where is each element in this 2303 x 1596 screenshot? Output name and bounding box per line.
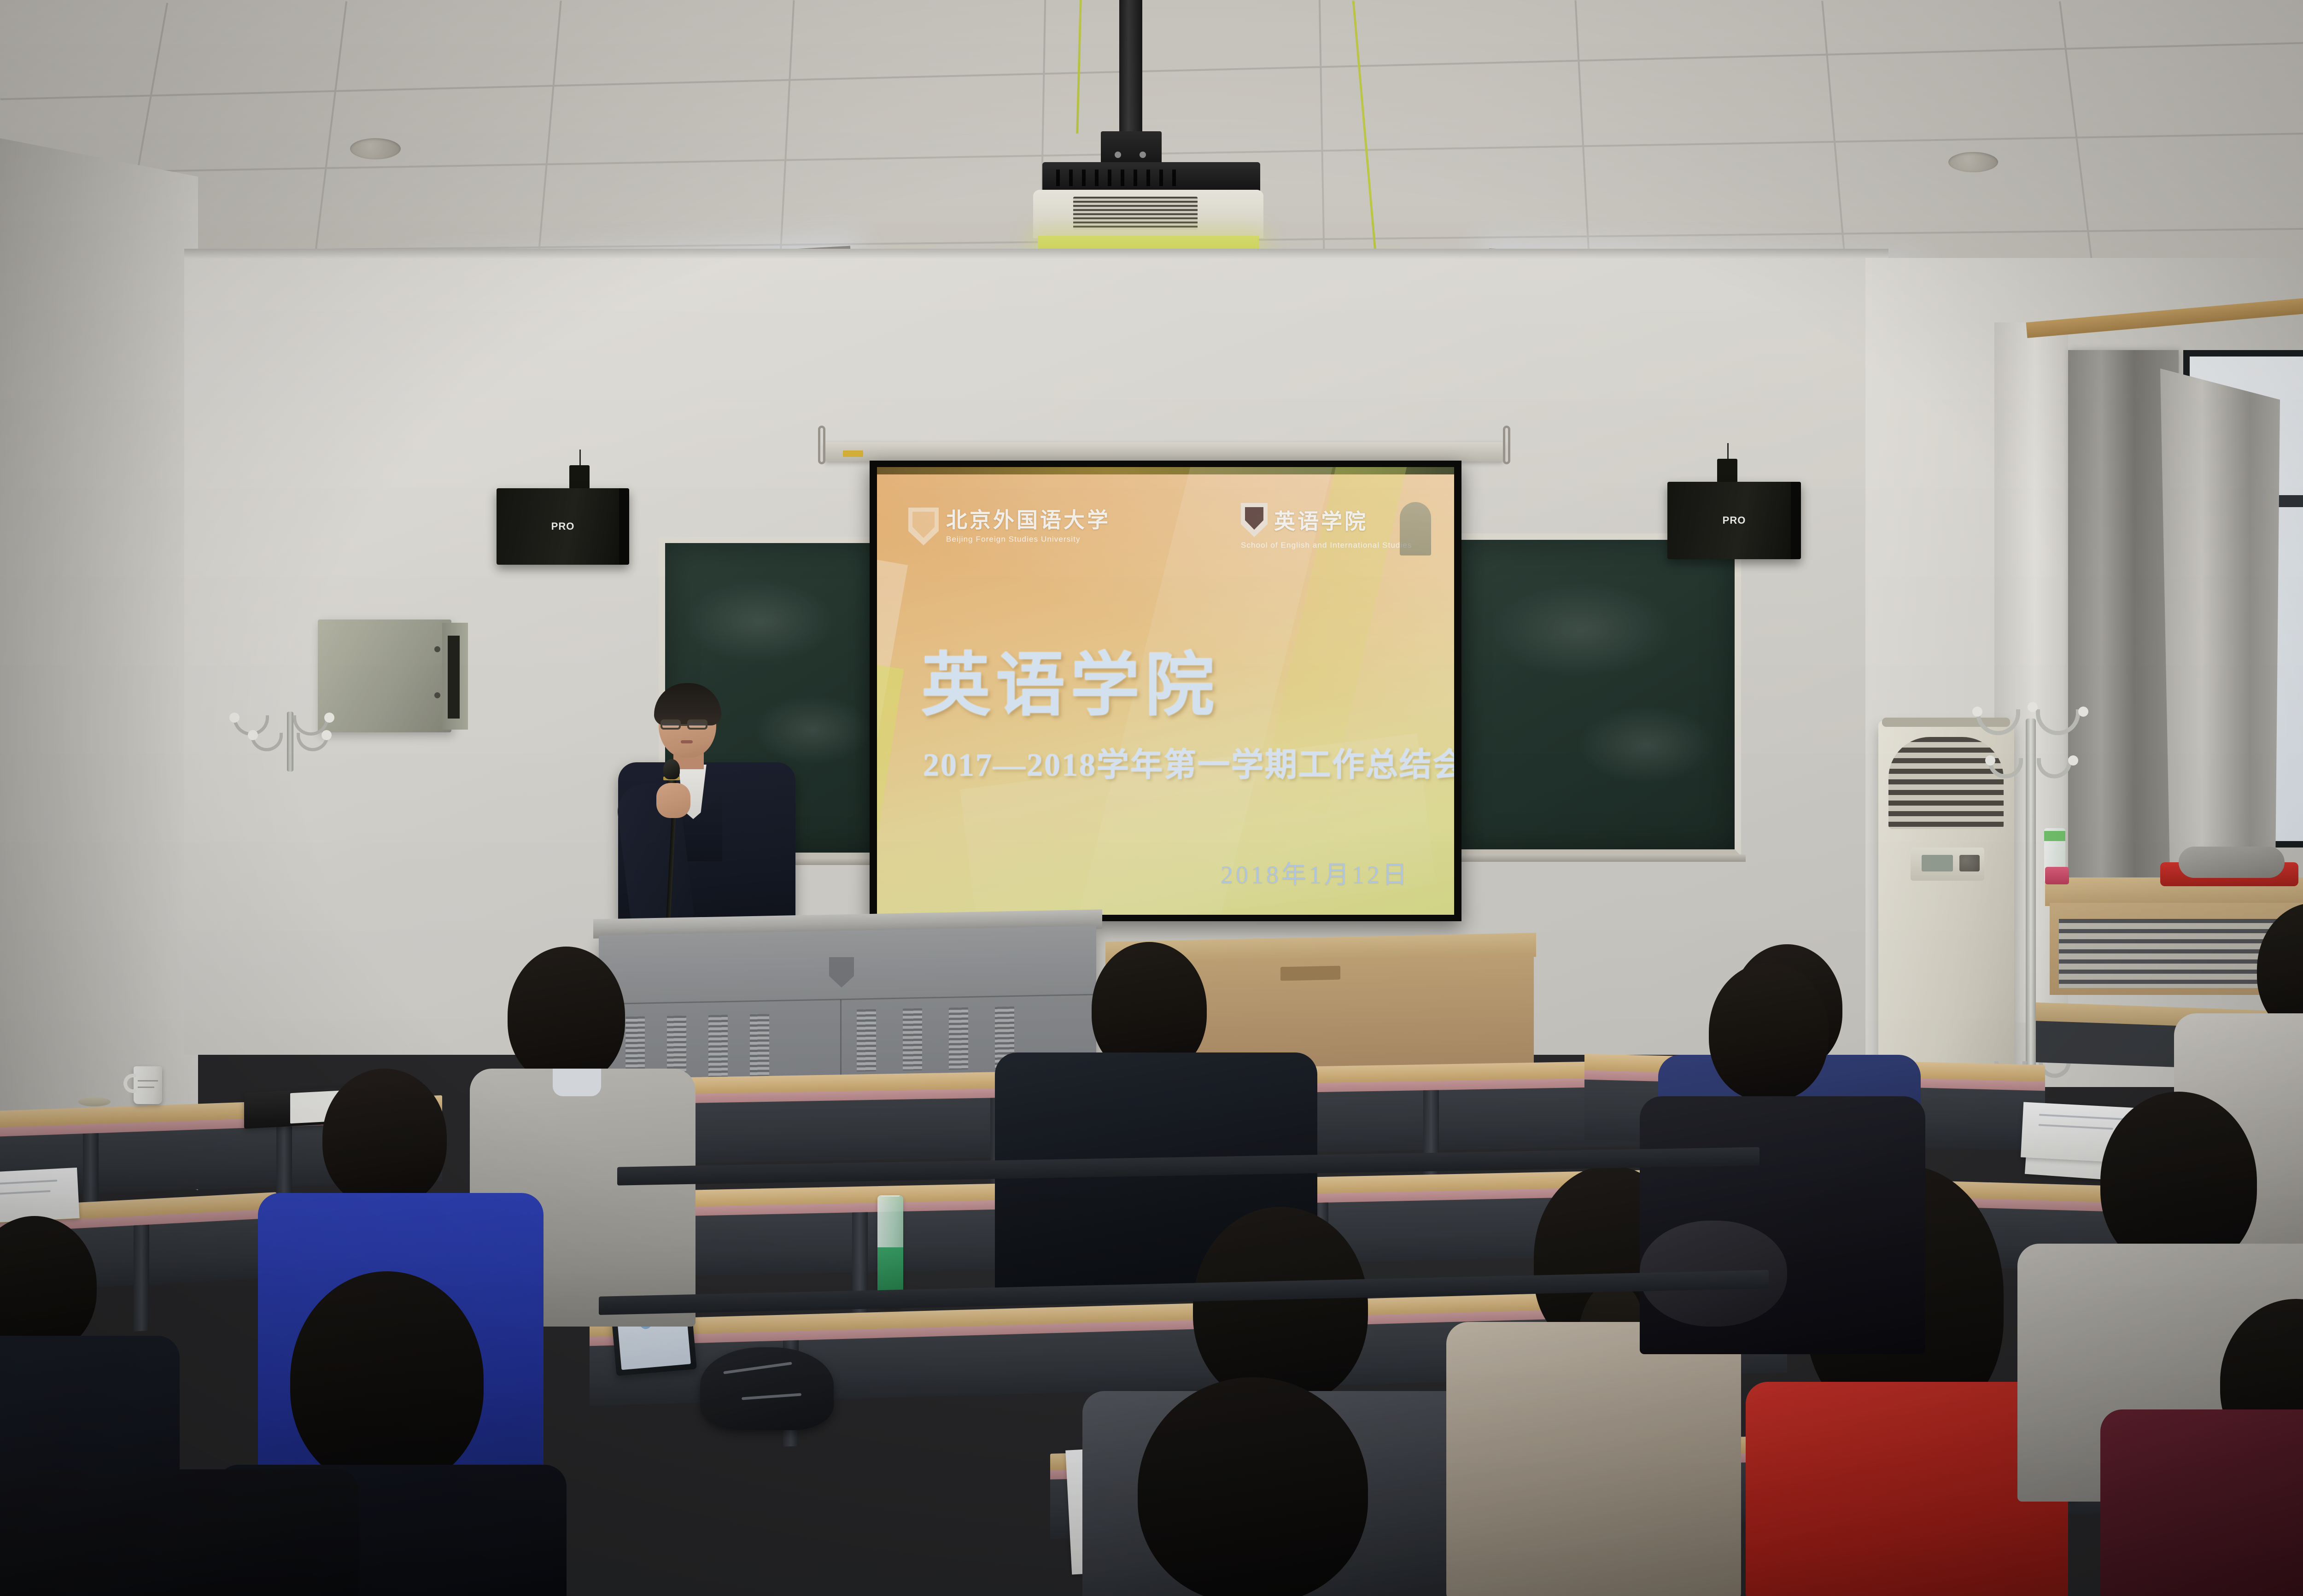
left-wall bbox=[0, 138, 198, 1190]
air-conditioner-buttons[interactable] bbox=[1959, 855, 1980, 871]
red-ribbons bbox=[276, 930, 303, 1046]
saucer bbox=[78, 1097, 111, 1106]
teacher-table-handle[interactable] bbox=[1280, 966, 1340, 981]
slide-title: 英语学院 bbox=[921, 629, 1220, 729]
university-logo-chinese: 北京外国语大学 bbox=[946, 510, 1111, 531]
university-logo: 北京外国语大学 Beijing Foreign Studies Universi… bbox=[908, 508, 1111, 545]
projector-mount-pole bbox=[1119, 0, 1142, 138]
slide-date: 2018年1月12日 bbox=[1221, 854, 1410, 890]
slide-monolith-graphic bbox=[1400, 502, 1431, 555]
screen-warning-label bbox=[843, 450, 863, 457]
bfsu-shield-icon bbox=[908, 508, 939, 545]
presenter-glasses-left bbox=[661, 719, 681, 730]
handheld-microphone bbox=[663, 759, 680, 779]
speaker-mount-right bbox=[1717, 459, 1737, 483]
wall-cabinet-slot bbox=[448, 636, 460, 719]
paper-stack-left bbox=[0, 1168, 80, 1223]
wall-control-cabinet[interactable] bbox=[318, 620, 451, 732]
speaker-brand-right: PRO bbox=[1667, 514, 1801, 526]
grey-cloth-on-sill bbox=[2179, 847, 2285, 878]
coat-rack-hooks-lower[interactable] bbox=[1988, 755, 2075, 801]
projection-screen-roller[interactable] bbox=[824, 442, 1504, 462]
curtain-middle[interactable] bbox=[2160, 368, 2280, 889]
wall-coat-hook[interactable] bbox=[249, 712, 332, 772]
wall-speaker-right: PRO bbox=[1667, 482, 1801, 559]
projector-top bbox=[1042, 162, 1260, 193]
ceiling-sensor-right bbox=[1948, 152, 1998, 172]
air-conditioner-display bbox=[1922, 855, 1953, 871]
presenter-glasses-bridge bbox=[680, 724, 687, 726]
projection-screen: 北京外国语大学 Beijing Foreign Studies Universi… bbox=[870, 461, 1461, 921]
school-logo-english: School of English and International Stud… bbox=[1241, 541, 1412, 550]
jar-on-sill bbox=[2045, 867, 2069, 884]
wall-trim bbox=[184, 249, 1888, 259]
backpack bbox=[700, 1347, 834, 1430]
seis-shield-icon bbox=[1241, 503, 1268, 537]
ceiling-sensor-left bbox=[350, 138, 401, 159]
speaker-mount-left bbox=[569, 465, 590, 489]
school-logo-chinese: 英语学院 bbox=[1274, 505, 1368, 535]
university-logo-english: Beijing Foreign Studies University bbox=[946, 535, 1111, 543]
school-logo: 英语学院 School of English and International… bbox=[1241, 503, 1412, 550]
blackboard-right bbox=[1451, 533, 1741, 856]
presenter-glasses-right bbox=[687, 719, 707, 730]
slide-subtitle: 2017—2018学年第一学期工作总结会 bbox=[923, 739, 1454, 785]
projector-vent-grill bbox=[1073, 197, 1198, 230]
slide-ribbon-2 bbox=[877, 661, 904, 915]
presentation-slide: 北京外国语大学 Beijing Foreign Studies Universi… bbox=[877, 467, 1454, 915]
white-mug bbox=[134, 1066, 162, 1104]
wall-speaker-left: PRO bbox=[497, 488, 629, 565]
coat-rack-hooks-upper[interactable] bbox=[1976, 705, 2087, 760]
classroom-photo: PRO PRO bbox=[0, 0, 2303, 1596]
presenter-hand bbox=[656, 783, 690, 818]
speaker-brand-left: PRO bbox=[497, 520, 629, 532]
chalk-tray-right bbox=[1446, 854, 1746, 862]
presenter-mouth bbox=[681, 740, 693, 743]
